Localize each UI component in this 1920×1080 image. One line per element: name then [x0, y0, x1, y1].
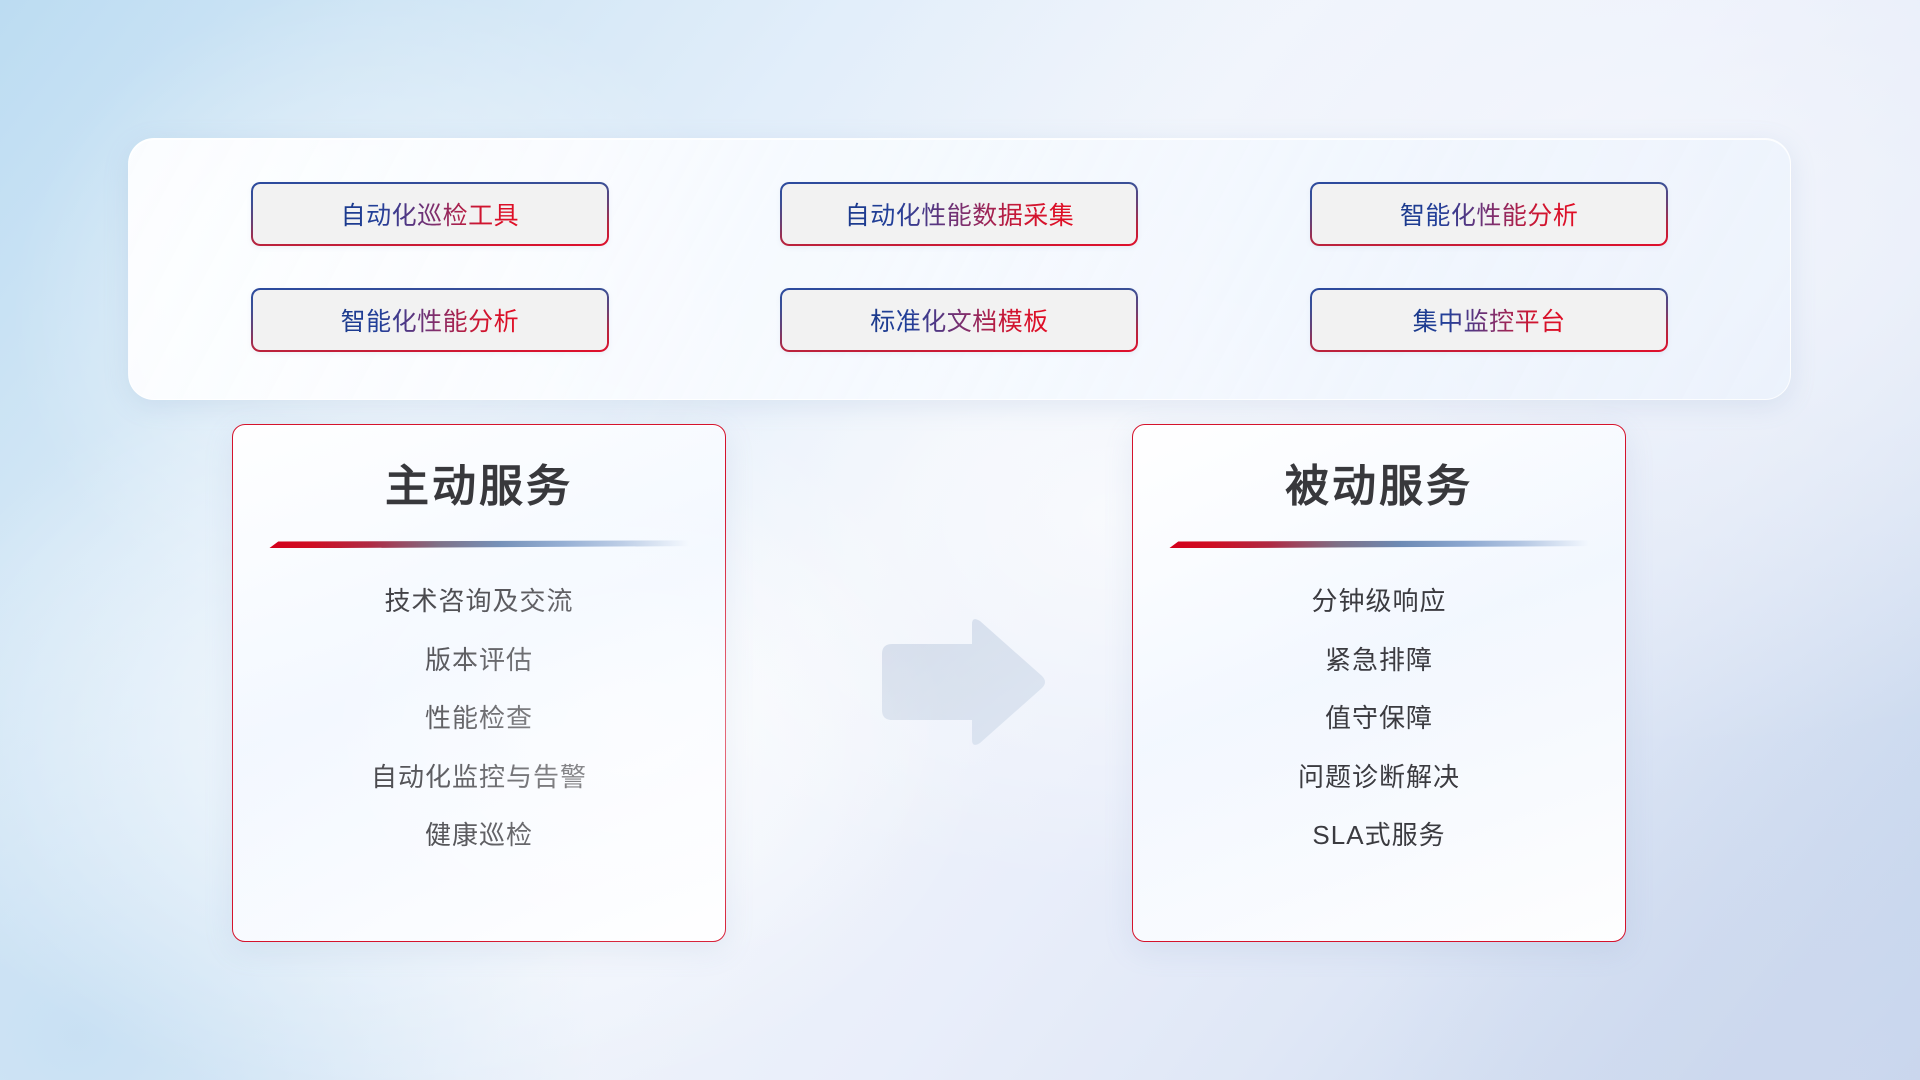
list-item: 技术咨询及交流 [384, 585, 573, 618]
list-item: 健康巡检 [425, 819, 533, 852]
capability-pill-1[interactable]: 自动化巡检工具 [251, 182, 609, 246]
list-item: 自动化监控与告警 [371, 761, 587, 794]
list-item: 紧急排障 [1325, 644, 1433, 677]
card-title: 主动服务 [385, 463, 573, 511]
title-divider [269, 539, 689, 549]
service-card-reactive[interactable]: 被动服务 分钟级响应 紧急排障 值守保障 问题诊断解决 SLA式服务 [1132, 424, 1626, 942]
capability-pill-3[interactable]: 智能化性能分析 [1310, 182, 1668, 246]
capability-pill-label: 标准化文档模板 [870, 302, 1049, 338]
capability-pill-2[interactable]: 自动化性能数据采集 [780, 182, 1138, 246]
capability-pill-label: 自动化性能数据采集 [845, 196, 1075, 232]
card-title: 被动服务 [1285, 463, 1473, 511]
list-item: SLA式服务 [1312, 819, 1445, 852]
capability-pill-label: 自动化巡检工具 [341, 196, 520, 232]
title-divider [1169, 539, 1589, 549]
divider-bar [269, 540, 689, 548]
list-item: 性能检查 [425, 702, 533, 735]
list-item: 分钟级响应 [1311, 585, 1446, 618]
service-item-list: 分钟级响应 紧急排障 值守保障 问题诊断解决 SLA式服务 [1167, 585, 1591, 852]
capability-pill-label: 智能化性能分析 [1400, 196, 1579, 232]
slide-canvas: 自动化巡检工具 自动化性能数据采集 智能化性能分析 智能化性能分析 标准化文档模… [0, 0, 1920, 1080]
service-card-proactive[interactable]: 主动服务 技术咨询及交流 版本评估 性能检查 自动化监控与告警 健康巡检 [232, 424, 726, 942]
list-item: 问题诊断解决 [1298, 761, 1460, 794]
right-arrow-icon [876, 616, 1048, 748]
service-item-list: 技术咨询及交流 版本评估 性能检查 自动化监控与告警 健康巡检 [267, 585, 691, 852]
capability-pill-label: 智能化性能分析 [341, 302, 520, 338]
list-item: 版本评估 [425, 644, 533, 677]
divider-bar [1169, 540, 1589, 548]
list-item: 值守保障 [1325, 702, 1433, 735]
capability-pill-4[interactable]: 智能化性能分析 [251, 288, 609, 352]
capability-pill-label: 集中监控平台 [1413, 302, 1566, 338]
capability-pill-6[interactable]: 集中监控平台 [1310, 288, 1668, 352]
capability-panel: 自动化巡检工具 自动化性能数据采集 智能化性能分析 智能化性能分析 标准化文档模… [128, 138, 1791, 400]
capability-pill-5[interactable]: 标准化文档模板 [780, 288, 1138, 352]
